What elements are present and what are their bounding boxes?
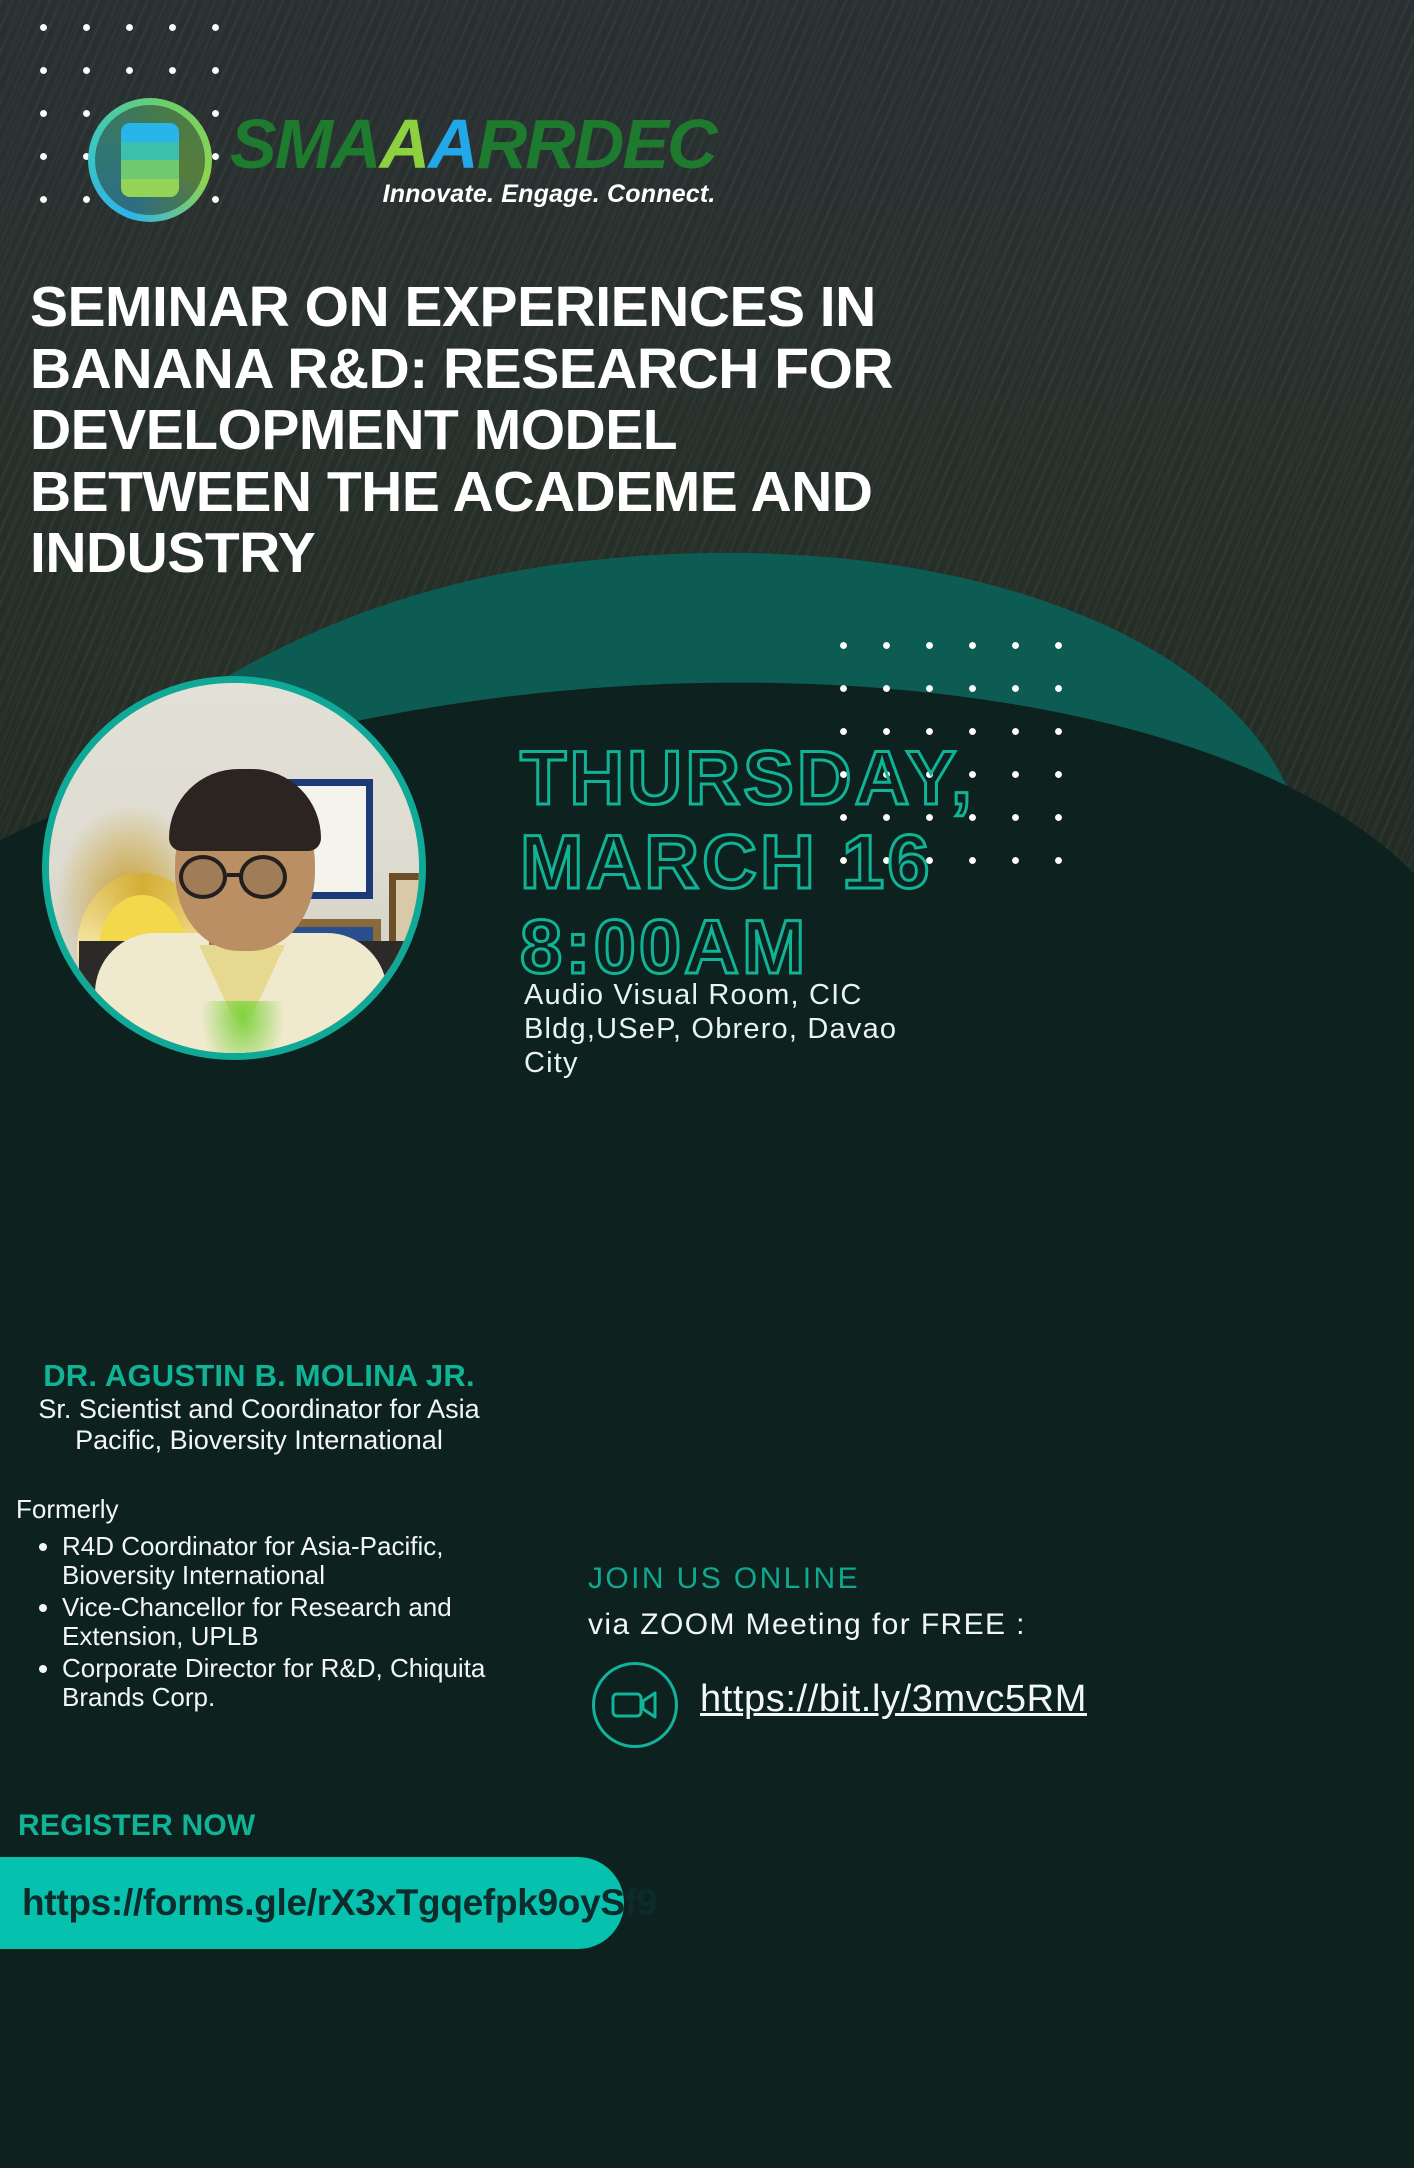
brand-text: SMAAARRDEC Innovate. Engage. Connect. bbox=[230, 111, 716, 209]
join-online-heading: JOIN US ONLINE bbox=[588, 1562, 860, 1596]
logo-bars-icon bbox=[121, 123, 179, 197]
video-camera-icon bbox=[592, 1662, 678, 1748]
brand-name: SMAAARRDEC bbox=[230, 111, 716, 178]
register-link-pill[interactable]: https://forms.gle/rX3xTgqefpk9oySf9 bbox=[0, 1857, 624, 1949]
speaker-photo bbox=[42, 676, 426, 1060]
register-now-label: REGISTER NOW bbox=[18, 1809, 255, 1843]
brand-name-part-4: RRDEC bbox=[477, 105, 716, 183]
brand-name-part-3: A bbox=[428, 105, 477, 183]
register-form-url[interactable]: https://forms.gle/rX3xTgqefpk9oySf9 bbox=[22, 1882, 657, 1924]
zoom-meeting-link[interactable]: https://bit.ly/3mvc5RM bbox=[700, 1678, 1087, 1721]
brand-header: SMAAARRDEC Innovate. Engage. Connect. bbox=[88, 98, 716, 222]
join-online-subheading: via ZOOM Meeting for FREE : bbox=[588, 1608, 1026, 1642]
page-title: SEMINAR ON EXPERIENCES IN BANANA R&D: RE… bbox=[30, 277, 930, 585]
brand-name-part-2: A bbox=[380, 105, 429, 183]
brand-name-part-1: SMA bbox=[230, 105, 380, 183]
formerly-list: R4D Coordinator for Asia-Pacific, Biover… bbox=[36, 1532, 496, 1714]
event-time: 8:00AM bbox=[520, 911, 1080, 985]
list-item: Vice-Chancellor for Research and Extensi… bbox=[62, 1593, 496, 1652]
event-date: MARCH 16 bbox=[520, 826, 1080, 900]
event-venue: Audio Visual Room, CIC Bldg,USeP, Obrero… bbox=[524, 978, 944, 1081]
speaker-role: Sr. Scientist and Coordinator for Asia P… bbox=[24, 1394, 494, 1455]
event-datetime: THURSDAY, MARCH 16 8:00AM bbox=[520, 742, 1080, 985]
brand-tagline: Innovate. Engage. Connect. bbox=[383, 180, 716, 209]
smaarrdec-logo-icon bbox=[88, 98, 212, 222]
list-item: R4D Coordinator for Asia-Pacific, Biover… bbox=[62, 1532, 496, 1591]
event-day: THURSDAY, bbox=[520, 742, 1080, 816]
speaker-name: DR. AGUSTIN B. MOLINA JR. bbox=[24, 1358, 494, 1394]
list-item: Corporate Director for R&D, Chiquita Bra… bbox=[62, 1654, 496, 1713]
formerly-label: Formerly bbox=[16, 1494, 119, 1525]
